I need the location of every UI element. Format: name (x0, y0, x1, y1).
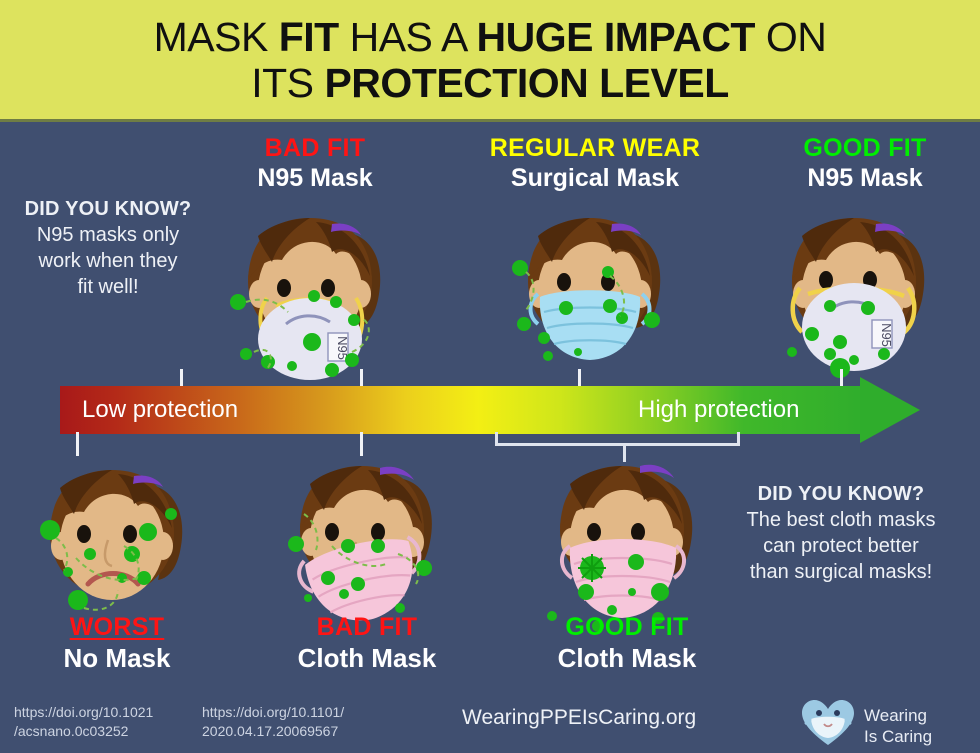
header-part-hugeimpact: HUGE IMPACT (477, 14, 766, 60)
category-good-fit-n95: GOOD FIT (745, 134, 980, 163)
label-no-mask: WORST No Mask (0, 612, 247, 674)
header-part-its: ITS (251, 60, 324, 106)
label-cloth-good-fit: GOOD FIT Cloth Mask (497, 612, 757, 674)
did-you-know-left: DID YOU KNOW? N95 masks only work when t… (8, 196, 208, 300)
logo-line-1: Wearing (864, 705, 932, 726)
header-title-line-2: ITS PROTECTION LEVEL (251, 60, 729, 106)
tick-bottom-no-mask (76, 432, 79, 456)
category-bad-fit-cloth: BAD FIT (237, 612, 497, 642)
dyk-right-line-2: can protect better (716, 533, 966, 559)
doi-1-line-2: /acsnano.0c03252 (14, 722, 204, 741)
header-part-hasa: HAS A (350, 14, 477, 60)
n95-good-fit-figure: N95 (768, 202, 950, 382)
spectrum-high-label: High protection (638, 396, 799, 424)
dyk-right-heading: DID YOU KNOW? (716, 481, 966, 507)
category-good-fit-cloth: GOOD FIT (497, 612, 757, 642)
did-you-know-right: DID YOU KNOW? The best cloth masks can p… (716, 481, 966, 585)
label-surgical-regular: REGULAR WEAR Surgical Mask (475, 134, 715, 194)
website-link[interactable]: WearingPPEIsCaring.org (462, 705, 696, 730)
label-n95-bad-fit: BAD FIT N95 Mask (195, 134, 435, 194)
heart-mask-logo-icon (800, 698, 856, 753)
dyk-left-line-1: N95 masks only (8, 222, 208, 248)
doi-2-line-1: https://doi.org/10.1101/ (202, 703, 402, 722)
poster-header: MASK FIT HAS A HUGE IMPACT ON ITS PROTEC… (0, 0, 980, 122)
dyk-left-line-2: work when they (8, 248, 208, 274)
doi-2-line-2: 2020.04.17.20069567 (202, 722, 402, 741)
svg-text:N95: N95 (879, 323, 894, 347)
dyk-right-line-1: The best cloth masks (716, 507, 966, 533)
header-part-on: ON (766, 14, 827, 60)
logo-line-2: Is Caring (864, 726, 932, 747)
mask-name-surgical: Surgical Mask (475, 163, 715, 194)
doi-reference-1[interactable]: https://doi.org/10.1021 /acsnano.0c03252 (14, 703, 204, 741)
mask-name-n95-good: N95 Mask (745, 163, 980, 194)
category-bad-fit-n95: BAD FIT (195, 134, 435, 163)
logo-text-block: Wearing Is Caring (864, 705, 932, 747)
infographic-poster: MASK FIT HAS A HUGE IMPACT ON ITS PROTEC… (0, 0, 980, 751)
header-part-fit: FIT (279, 14, 350, 60)
cloth-mask-bad-fit-figure (276, 458, 458, 633)
spectrum-low-label: Low protection (82, 396, 238, 424)
label-cloth-bad-fit: BAD FIT Cloth Mask (237, 612, 497, 674)
dyk-left-heading: DID YOU KNOW? (8, 196, 208, 222)
header-title-line-1: MASK FIT HAS A HUGE IMPACT ON (154, 14, 827, 60)
protection-spectrum: Low protection High protection (60, 386, 920, 434)
mask-name-no-mask: No Mask (0, 642, 247, 674)
dyk-right-line-3: than surgical masks! (716, 559, 966, 585)
header-part-mask: MASK (154, 14, 279, 60)
no-mask-figure (26, 458, 208, 633)
n95-bad-fit-figure: N95 (224, 202, 406, 382)
label-n95-good-fit: GOOD FIT N95 Mask (745, 134, 980, 194)
category-worst: WORST (0, 612, 247, 642)
mask-name-cloth-good: Cloth Mask (497, 642, 757, 674)
mask-name-cloth-bad: Cloth Mask (237, 642, 497, 674)
wearing-is-caring-logo[interactable]: Wearing Is Caring (800, 698, 932, 753)
doi-1-line-1: https://doi.org/10.1021 (14, 703, 204, 722)
surgical-mask-figure (504, 202, 686, 382)
spectrum-arrow-head (860, 377, 920, 443)
cloth-mask-good-fit-figure (536, 458, 718, 633)
category-regular-wear: REGULAR WEAR (475, 134, 715, 163)
dyk-left-line-3: fit well! (8, 274, 208, 300)
mask-name-n95-bad: N95 Mask (195, 163, 435, 194)
tick-bottom-cloth-bad (360, 432, 363, 456)
spectrum-bracket-cloth-good (495, 432, 740, 446)
header-part-protectionlevel: PROTECTION LEVEL (324, 60, 728, 106)
doi-reference-2[interactable]: https://doi.org/10.1101/ 2020.04.17.2006… (202, 703, 402, 741)
